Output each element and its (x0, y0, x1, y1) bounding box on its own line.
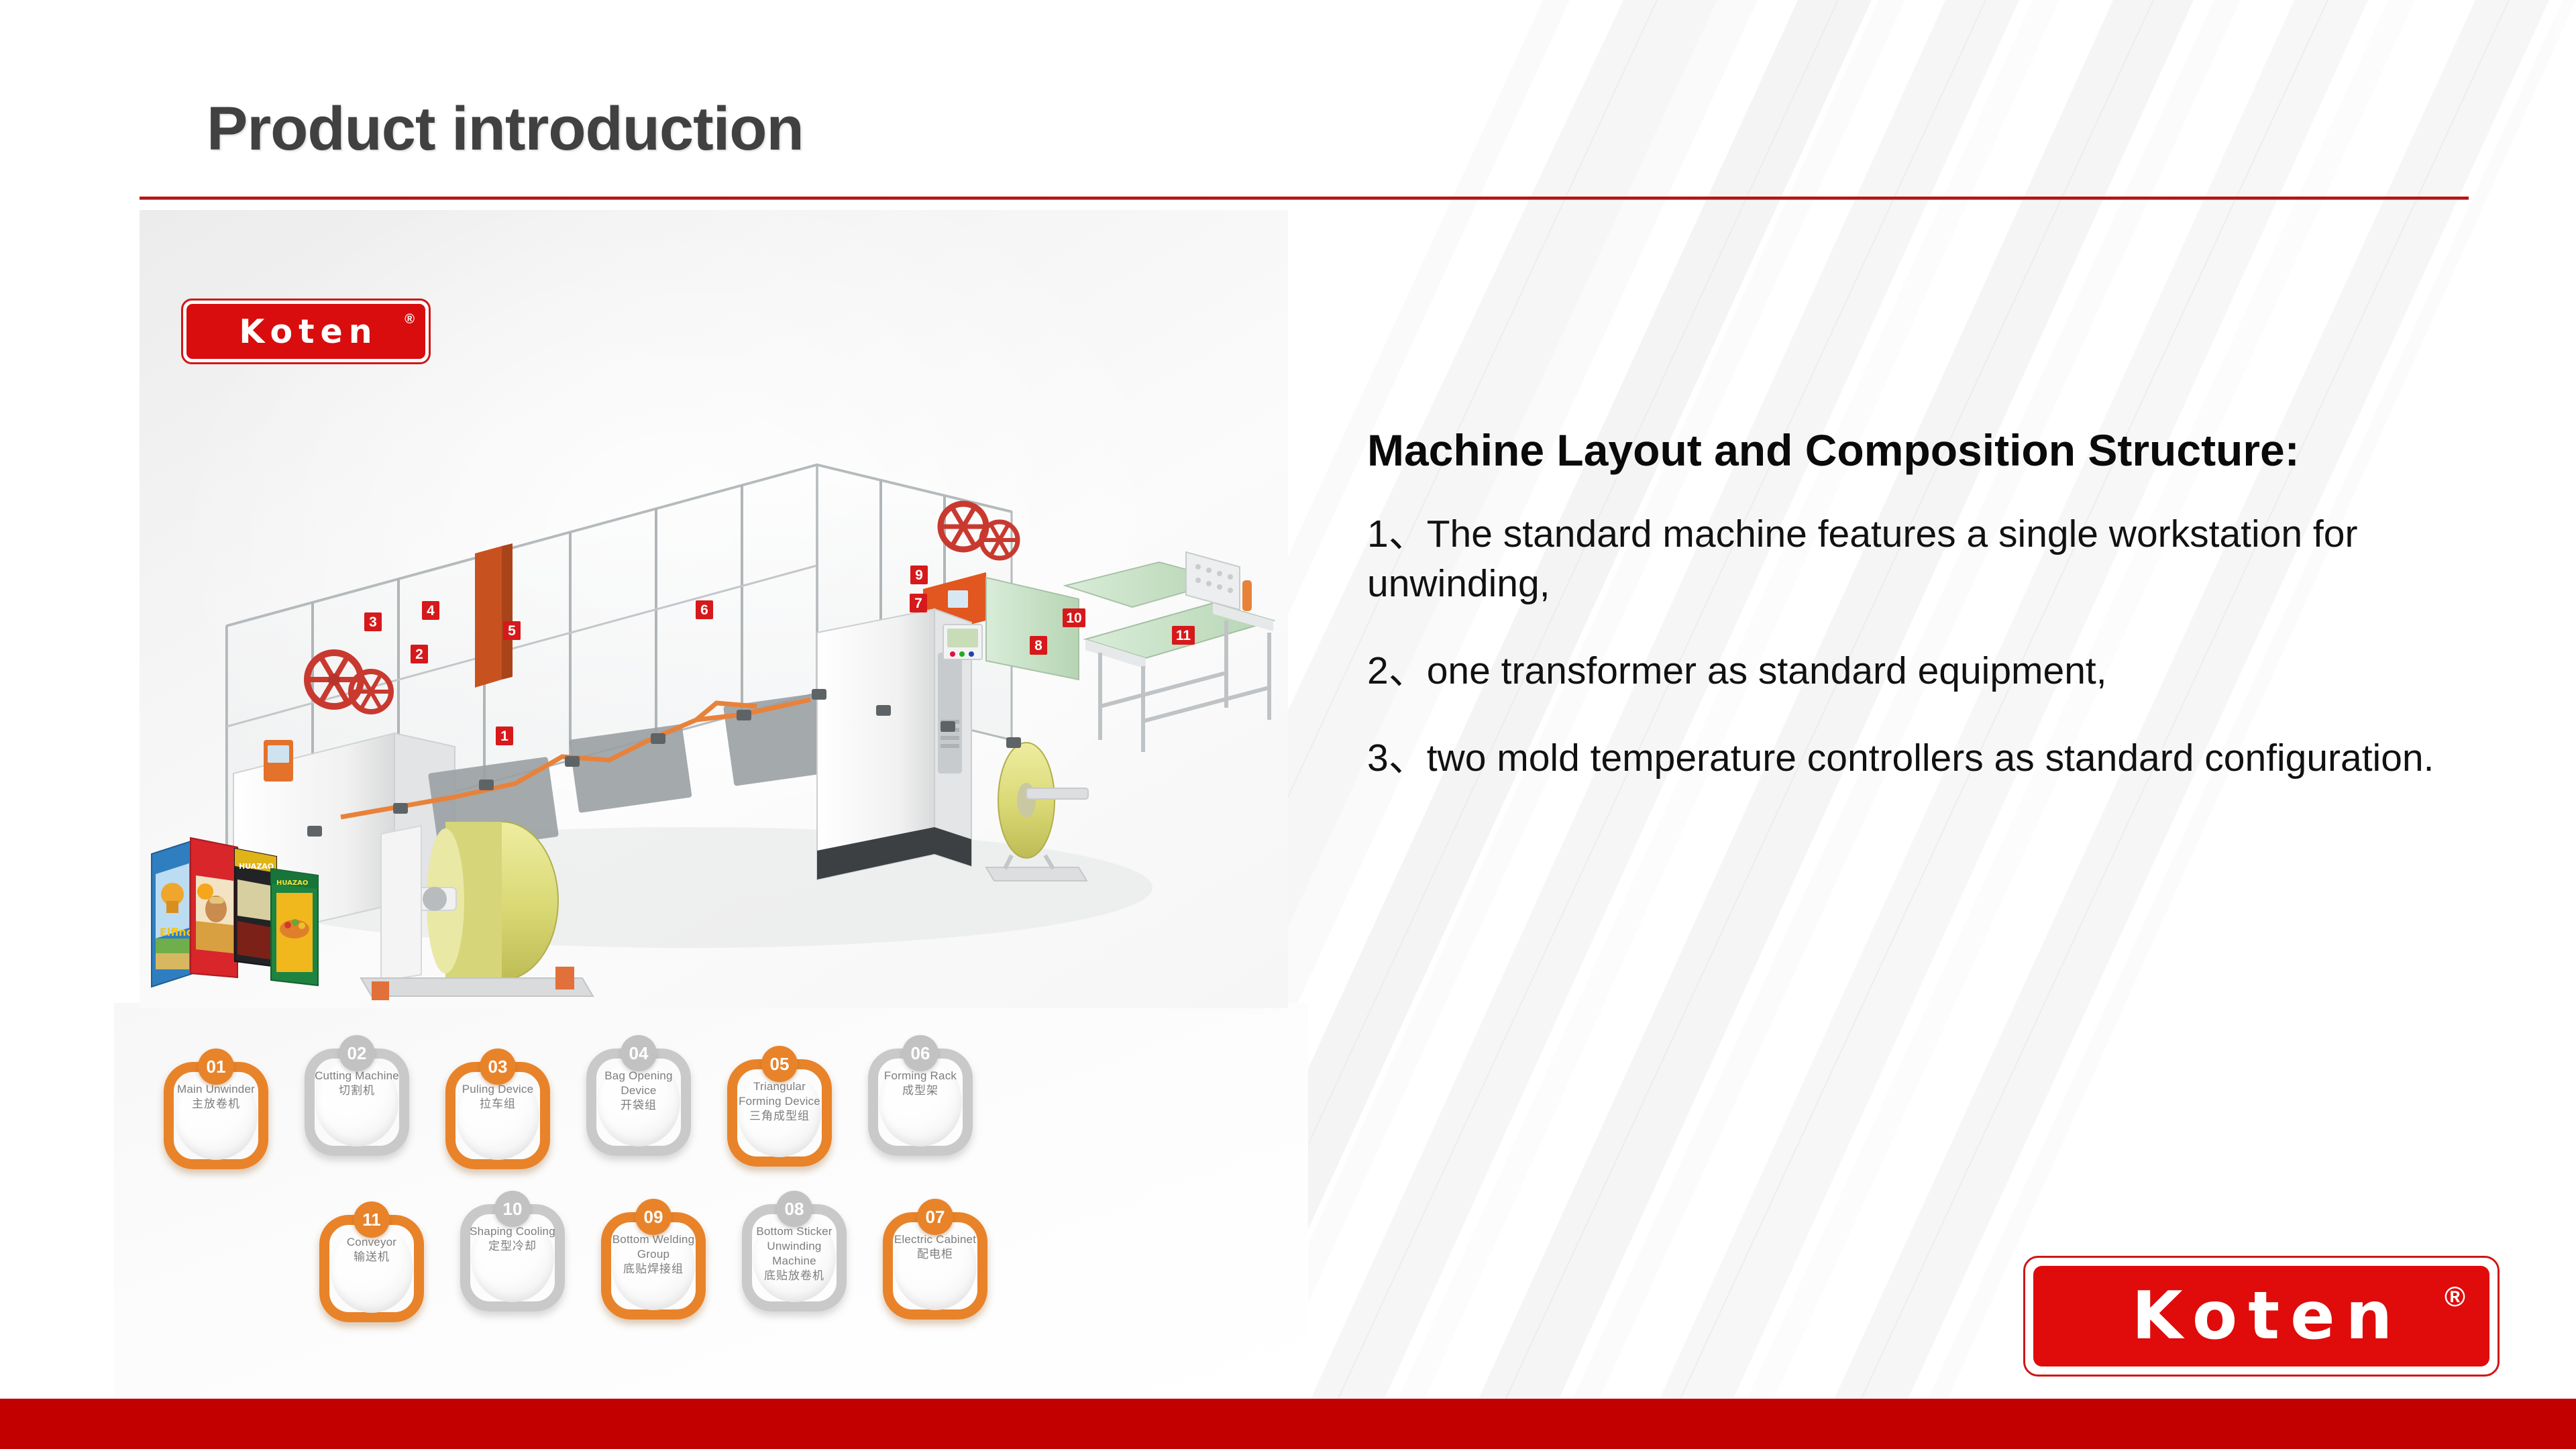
machine-marker-2[interactable]: 2 (411, 645, 428, 663)
registered-trademark-icon-footer: ® (2445, 1281, 2465, 1313)
component-node-11[interactable]: 11 Conveyor 输送机 (315, 1197, 428, 1325)
machine-photo-panel: Elfino HUAZAO HUAZAO Koten ® (140, 210, 1288, 1008)
node-label-en: Bottom Welding Group (612, 1233, 695, 1260)
machine-marker-7[interactable]: 7 (910, 594, 927, 612)
machine-marker-1[interactable]: 1 (496, 727, 513, 745)
component-node-01[interactable]: 01 Main Unwinder 主放卷机 (160, 1044, 272, 1172)
title-underline-rule (140, 197, 2469, 200)
koten-wordmark: Koten (233, 315, 378, 348)
node-label: Bottom Welding Group 底贴焊接组 (605, 1232, 702, 1277)
node-label: Electric Cabinet 配电柜 (887, 1232, 983, 1262)
node-label: Cutting Machine 切割机 (309, 1069, 405, 1098)
node-label: Triangular Forming Device 三角成型组 (731, 1079, 828, 1124)
bullet-item-1: 1、The standard machine features a single… (1367, 509, 2467, 608)
koten-wordmark-footer: Koten (2120, 1283, 2404, 1349)
machine-marker-5[interactable]: 5 (503, 621, 521, 640)
page-title: Product introduction (207, 94, 804, 164)
node-number-badge: 03 (480, 1049, 516, 1085)
node-label: Forming Rack 成型架 (872, 1069, 969, 1098)
node-label-en: Bottom Sticker Unwinding Machine (756, 1225, 832, 1267)
footer-accent-bar (0, 1399, 2576, 1449)
component-diagram-panel: 01 Main Unwinder 主放卷机 02 Cutting Machine… (114, 1003, 1308, 1405)
node-label: Puling Device 拉车组 (449, 1082, 546, 1112)
composition-heading: Machine Layout and Composition Structure… (1367, 423, 2467, 478)
svg-text:HUAZAO: HUAZAO (239, 862, 274, 871)
node-label-cn: 主放卷机 (168, 1097, 264, 1112)
node-number-badge: 06 (902, 1035, 938, 1071)
node-number-badge: 05 (761, 1046, 798, 1082)
registered-trademark-icon: ® (405, 312, 415, 327)
node-label-cn: 配电柜 (887, 1247, 983, 1262)
node-label: Bag Opening Device 开袋组 (590, 1069, 687, 1113)
node-number-badge: 11 (354, 1201, 390, 1238)
component-node-09[interactable]: 09 Bottom Welding Group 底贴焊接组 (597, 1195, 710, 1322)
machine-marker-6[interactable]: 6 (696, 600, 713, 619)
component-node-10[interactable]: 10 Shaping Cooling 定型冷却 (456, 1187, 569, 1314)
node-label-cn: 成型架 (872, 1083, 969, 1098)
component-node-06[interactable]: 06 Forming Rack 成型架 (864, 1031, 977, 1159)
node-label-cn: 拉车组 (449, 1097, 546, 1112)
node-label-cn: 切割机 (309, 1083, 405, 1098)
node-number-badge: 09 (635, 1199, 672, 1235)
node-label-cn: 开袋组 (590, 1098, 687, 1113)
node-label-cn: 输送机 (323, 1250, 420, 1265)
machine-marker-3[interactable]: 3 (364, 612, 382, 631)
node-label-cn: 底贴焊接组 (605, 1262, 702, 1277)
component-node-04[interactable]: 04 Bag Opening Device 开袋组 (582, 1031, 695, 1159)
node-number-badge: 01 (198, 1049, 234, 1085)
component-node-05[interactable]: 05 Triangular Forming Device 三角成型组 (723, 1042, 836, 1169)
node-label: Bottom Sticker Unwinding Machine 底贴放卷机 (746, 1224, 843, 1283)
body-text-column: Machine Layout and Composition Structure… (1367, 423, 2467, 783)
node-label-cn: 三角成型组 (731, 1109, 828, 1124)
koten-logo-photo: Koten ® (181, 299, 431, 364)
bullet-item-3: 3、two mold temperature controllers as st… (1367, 733, 2467, 783)
machine-marker-4[interactable]: 4 (422, 601, 439, 620)
koten-logo-plate-footer: Koten ® (2033, 1266, 2489, 1366)
svg-text:HUAZAO: HUAZAO (276, 879, 308, 887)
node-number-badge: 08 (776, 1191, 812, 1227)
node-label: Main Unwinder 主放卷机 (168, 1082, 264, 1112)
machine-marker-11[interactable]: 11 (1172, 626, 1195, 645)
node-number-badge: 07 (917, 1199, 953, 1235)
bullet-item-2: 2、one transformer as standard equipment, (1367, 646, 2467, 696)
node-label: Conveyor 输送机 (323, 1235, 420, 1265)
component-node-07[interactable]: 07 Electric Cabinet 配电柜 (879, 1195, 991, 1322)
node-number-badge: 10 (494, 1191, 531, 1227)
node-label-en: Triangular Forming Device (739, 1080, 820, 1108)
component-node-03[interactable]: 03 Puling Device 拉车组 (441, 1044, 554, 1172)
node-number-badge: 04 (621, 1035, 657, 1071)
svg-text:Elfino: Elfino (160, 926, 194, 938)
node-label-en: Bag Opening Device (604, 1069, 672, 1097)
koten-logo-plate: Koten ® (186, 304, 425, 359)
component-node-02[interactable]: 02 Cutting Machine 切割机 (301, 1031, 413, 1159)
machine-marker-9[interactable]: 9 (910, 566, 928, 584)
koten-logo-footer: Koten ® (2023, 1256, 2500, 1377)
node-number-badge: 02 (339, 1035, 375, 1071)
node-label-cn: 底贴放卷机 (746, 1269, 843, 1283)
machine-marker-10[interactable]: 10 (1063, 608, 1085, 627)
node-label: Shaping Cooling 定型冷却 (464, 1224, 561, 1254)
node-label-cn: 定型冷却 (464, 1239, 561, 1254)
component-node-08[interactable]: 08 Bottom Sticker Unwinding Machine 底贴放卷… (738, 1187, 851, 1314)
machine-marker-8[interactable]: 8 (1030, 636, 1047, 655)
